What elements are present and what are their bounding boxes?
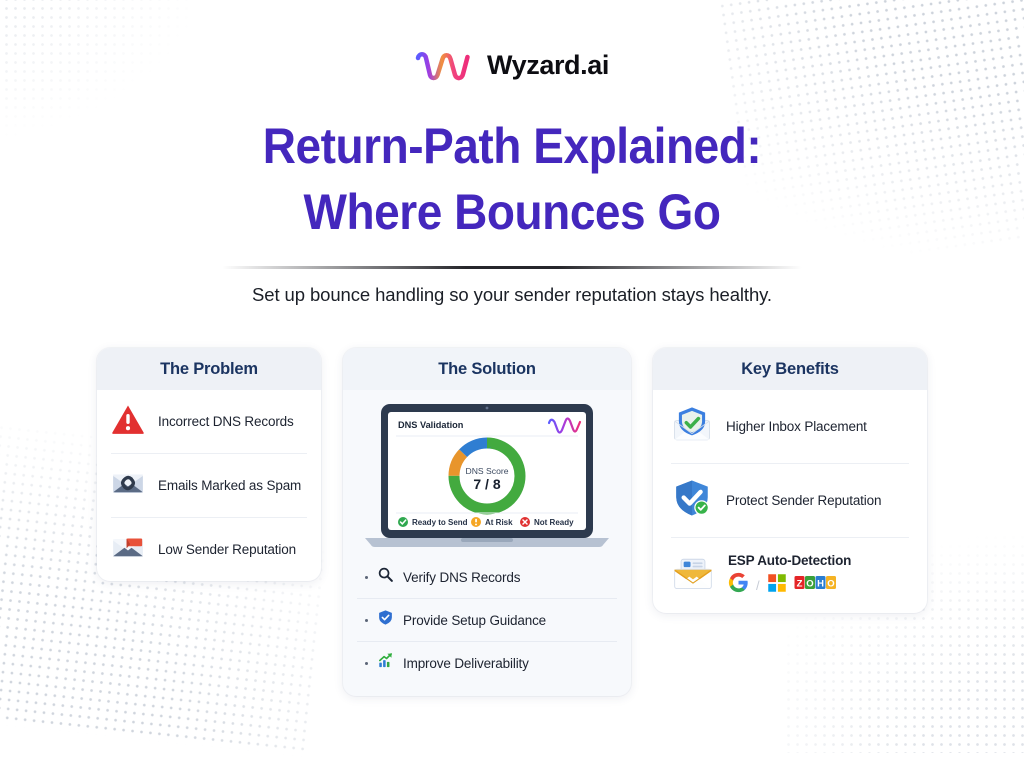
list-item-label: Emails Marked as Spam (158, 478, 301, 493)
legend-label-atrisk: At Risk (485, 518, 513, 527)
svg-text:Z: Z (796, 579, 802, 590)
divider (222, 266, 802, 269)
list-item[interactable]: Verify DNS Records (357, 556, 617, 599)
cards-container: The Problem Incorrect DNS Records (0, 348, 1024, 658)
donut-center-value: 7 / 8 (473, 476, 500, 492)
list-item-label: Protect Sender Reputation (726, 493, 881, 508)
dns-validation-title: DNS Validation (398, 420, 464, 430)
esp-block: ESP Auto-Detection / (728, 553, 851, 598)
list-item[interactable]: Improve Deliverability (357, 642, 617, 684)
laptop-dns-dashboard-mockup: DNS Validation (357, 398, 617, 550)
svg-text:O: O (806, 579, 813, 590)
page-title-line-2: Where Bounces Go (41, 179, 983, 245)
bullet-dot-icon (365, 662, 368, 665)
warning-triangle-icon (111, 402, 145, 441)
envelope-shield-check-icon (671, 403, 713, 450)
solution-feature-list: Verify DNS Records Provide Setup Guidanc… (357, 556, 617, 684)
svg-text:H: H (817, 579, 824, 590)
card-title-solution: The Solution (343, 348, 631, 390)
card-body-benefits: Higher Inbox Placement Protect Se (653, 390, 927, 613)
page-title-line-1: Return-Path Explained: (263, 118, 761, 174)
list-item-label: Low Sender Reputation (158, 542, 296, 557)
list-item[interactable]: Emails Marked as Spam (111, 454, 307, 518)
bullet-dot-icon (365, 619, 368, 622)
list-item-label: Verify DNS Records (403, 570, 520, 585)
card-title-benefits: Key Benefits (653, 348, 927, 390)
card-the-problem: The Problem Incorrect DNS Records (97, 348, 321, 581)
bullet-dot-icon (365, 576, 368, 579)
card-body-solution: DNS Validation (343, 390, 631, 696)
esp-title: ESP Auto-Detection (728, 553, 851, 568)
list-item[interactable]: Protect Sender Reputation (671, 464, 909, 538)
donut-center-label: DNS Score (466, 466, 509, 476)
page-title: Return-Path Explained: Where Bounces Go (41, 113, 983, 245)
shield-check-badge-icon (671, 477, 713, 524)
card-key-benefits: Key Benefits Higher Inbox Placement (653, 348, 927, 613)
shield-check-icon (377, 609, 394, 631)
esp-logos: / (728, 572, 851, 598)
zoho-logo-icon: Z O H O (794, 573, 837, 597)
legend-label-ready: Ready to Send (412, 518, 468, 527)
donut-legend: Ready to Send At Risk Not Ready (398, 517, 574, 527)
card-the-solution: The Solution DNS Validation (343, 348, 631, 696)
list-item[interactable]: Low Sender Reputation (111, 518, 307, 581)
infographic-page: Wyzard.ai Return-Path Explained: Where B… (0, 0, 1024, 683)
envelope-red-flag-icon (111, 530, 145, 569)
page-subtitle: Set up bounce handling so your sender re… (0, 284, 1024, 306)
list-item-label: Improve Deliverability (403, 656, 529, 671)
esp-separator: / (756, 578, 760, 593)
microsoft-logo-icon (767, 573, 787, 598)
list-item-label: Higher Inbox Placement (726, 419, 867, 434)
google-logo-icon (728, 572, 749, 598)
brand-name: Wyzard.ai (487, 50, 609, 81)
wyzard-wave-logo-icon (415, 48, 475, 82)
envelope-chain-link-icon (111, 466, 145, 505)
brand-header: Wyzard.ai (0, 48, 1024, 82)
list-item-esp[interactable]: ESP Auto-Detection / (671, 538, 909, 613)
list-item-label: Incorrect DNS Records (158, 414, 294, 429)
list-item[interactable]: Higher Inbox Placement (671, 390, 909, 464)
magnifier-icon (377, 566, 394, 588)
list-item-label: Provide Setup Guidance (403, 613, 546, 628)
card-body-problem: Incorrect DNS Records (97, 390, 321, 581)
bar-chart-up-icon (377, 652, 394, 674)
envelope-document-icon (671, 551, 715, 600)
list-item[interactable]: Provide Setup Guidance (357, 599, 617, 642)
list-item[interactable]: Incorrect DNS Records (111, 390, 307, 454)
legend-label-notready: Not Ready (534, 518, 574, 527)
card-title-problem: The Problem (97, 348, 321, 390)
svg-text:O: O (827, 579, 834, 590)
